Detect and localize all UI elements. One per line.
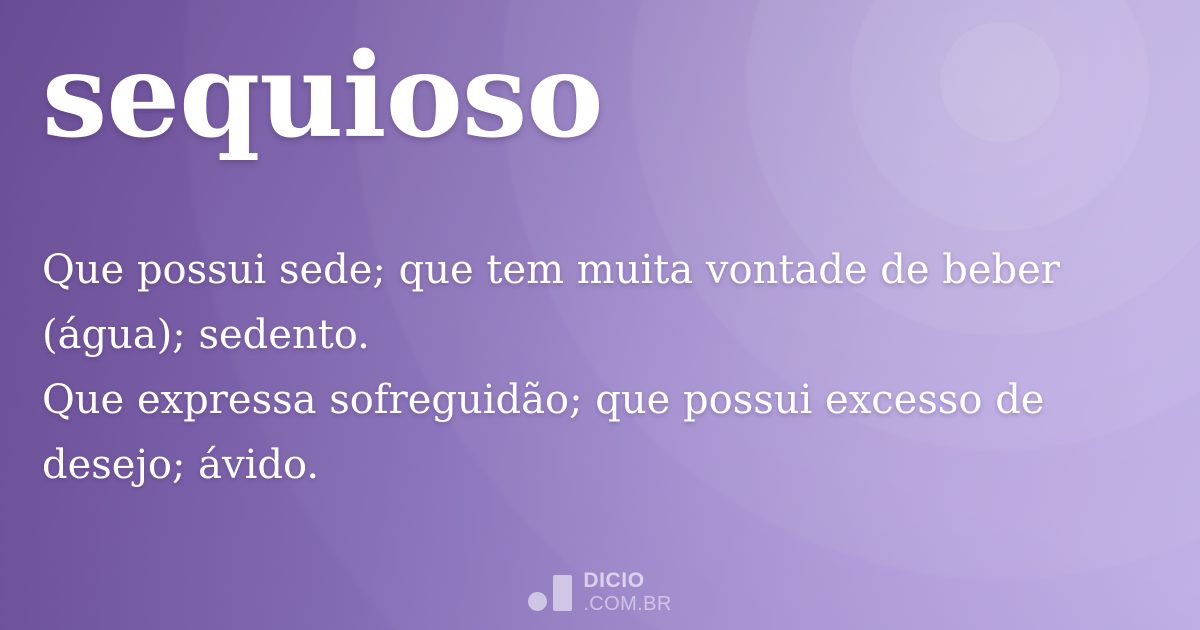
card-content: sequioso Que possui sede; que tem muita …	[0, 0, 1200, 630]
headword-title: sequioso	[42, 26, 603, 168]
definition-list: Que possui sede; que tem muita vontade d…	[42, 238, 1162, 498]
dicio-logo-mark	[528, 574, 572, 611]
logo-brand-name: DICIO	[583, 570, 671, 591]
bar-mark-icon	[553, 575, 572, 611]
definition-item-2: Que expressa sofreguidão; que possui exc…	[42, 368, 1162, 498]
definition-item-1: Que possui sede; que tem muita vontade d…	[42, 238, 1162, 368]
circle-mark-icon	[528, 592, 547, 611]
dicio-logo: DICIO .COM.BR	[0, 570, 1200, 614]
logo-domain-suffix: .COM.BR	[583, 594, 671, 614]
dicio-logo-text: DICIO .COM.BR	[583, 570, 671, 614]
dicio-word-card: sequioso Que possui sede; que tem muita …	[0, 0, 1200, 630]
